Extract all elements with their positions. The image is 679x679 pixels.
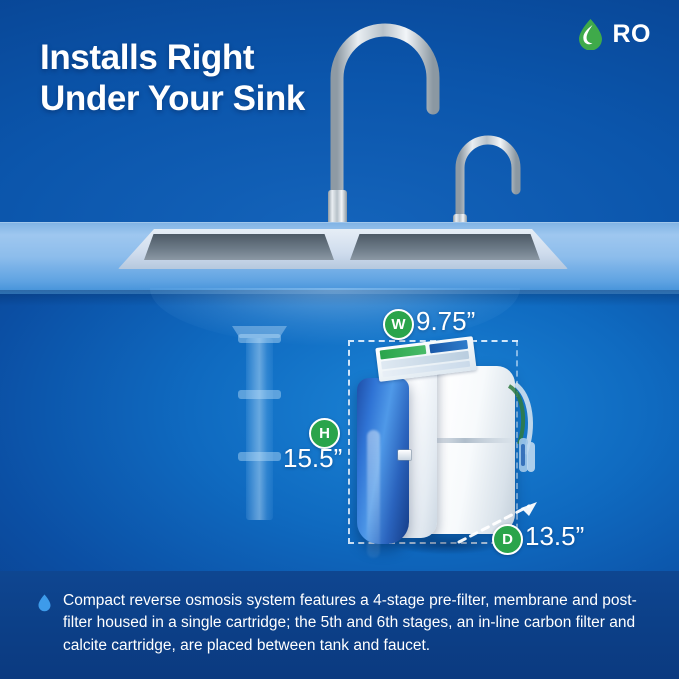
cartridge-highlight xyxy=(367,430,380,558)
drain-collar-bottom xyxy=(238,452,281,461)
page-title: Installs Right Under Your Sink xyxy=(40,38,370,119)
sink-bowl-right xyxy=(350,234,540,260)
infographic-canvas: Installs Right Under Your Sink RO W 9.75… xyxy=(0,0,679,679)
product-indicator-button xyxy=(398,450,411,460)
caption-text: Compact reverse osmosis system features … xyxy=(63,590,650,657)
drain-collar-top xyxy=(238,334,281,343)
headline-line-2: Under Your Sink xyxy=(40,79,370,120)
depth-badge: D xyxy=(492,524,523,555)
logo-text: RO xyxy=(613,20,652,49)
double-bowl-sink xyxy=(118,229,568,269)
height-value: 15.5” xyxy=(283,443,342,474)
width-value: 9.75” xyxy=(416,306,475,337)
caption-block: Compact reverse osmosis system features … xyxy=(38,590,650,657)
water-droplet-icon xyxy=(577,18,604,50)
depth-value: 13.5” xyxy=(525,521,584,552)
drain-collar-middle xyxy=(238,390,281,399)
headline-line-1: Installs Right xyxy=(40,38,370,79)
product-tubing xyxy=(505,380,541,480)
water-droplet-bullet-icon xyxy=(38,594,51,612)
width-badge: W xyxy=(383,309,414,340)
sink-bowl-left xyxy=(144,234,334,260)
drain-pipe xyxy=(246,338,273,520)
product-filter-cartridge xyxy=(357,378,409,544)
brand-logo: RO xyxy=(577,18,652,50)
